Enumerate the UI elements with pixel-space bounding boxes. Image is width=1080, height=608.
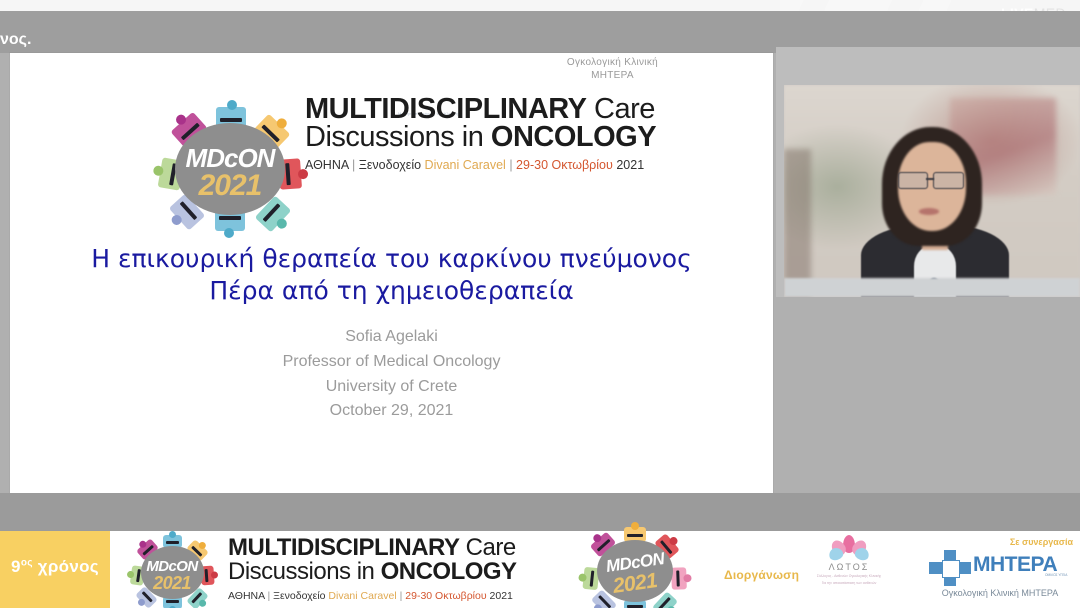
mdcon-logo-banner-right: MDcON 2021 <box>580 527 690 608</box>
author-name: Sofia Agelaki <box>10 325 773 350</box>
eyeglasses-bridge <box>926 178 934 180</box>
wordmark-sep1: | <box>352 158 355 172</box>
wordmark-line1-thin: Care <box>460 534 516 561</box>
mdcon-logo-line1: MDcON <box>126 559 218 574</box>
wordmark-dates: 29-30 Οκτωβρίου <box>405 590 486 602</box>
lotus-sponsor-logo: ΛΩΤΟΣ Σύλλογος - Ασθενών Ογκολογικής Κλι… <box>812 535 886 586</box>
year-badge: 9ος χρόνος <box>0 531 110 608</box>
player-bottom-strip <box>0 493 1080 531</box>
slide-title: Η επικουρική θεραπεία του καρκίνου πνεύμ… <box>10 243 773 307</box>
mdcon-logo-slide: MDcON 2021 <box>150 105 310 229</box>
mdcon-logo-line2: 2021 <box>126 574 218 592</box>
slide-clinic-header: Ογκολογική Κλινική ΜΗΤΕΡΑ <box>567 57 658 82</box>
lotus-sub1: Σύλλογος - Ασθενών Ογκολογικής Κλινικής <box>812 574 886 579</box>
slide-title-line1: Η επικουρική θεραπεία του καρκίνου πνεύμ… <box>10 243 773 275</box>
author-date: October 29, 2021 <box>10 399 773 424</box>
wordmark-line2-thin: Discussions in <box>228 558 381 585</box>
wordmark-sep2: | <box>400 590 403 602</box>
conference-wordmark-banner: MULTIDISCIPLINARY Care Discussions in ON… <box>228 534 517 602</box>
wordmark-venue: Divani Caravel <box>425 158 506 172</box>
organizer-label: Διοργάνωση <box>724 568 799 582</box>
door-edge <box>784 149 811 297</box>
year-badge-text: 9ος χρόνος <box>0 557 110 577</box>
wordmark-line2-bold: ONCOLOGY <box>491 121 656 153</box>
mitera-cross-icon <box>929 550 971 586</box>
eyeglasses-left-lens <box>898 172 928 189</box>
mdcon-logo-line1: MDcON <box>150 145 310 171</box>
lotus-name: ΛΩΤΟΣ <box>812 562 886 572</box>
slide-clinic-line2: ΜΗΤΕΡΑ <box>567 70 658 83</box>
cooperation-label: Σε συνεργασία <box>1010 537 1073 547</box>
wordmark-line3: ΑΘΗΝΑ | Ξενοδοχείο Divani Caravel | 29-3… <box>228 590 517 602</box>
wordmark-venue-label: Ξενοδοχείο <box>273 590 325 602</box>
wordmark-sep1: | <box>267 590 270 602</box>
mitera-tiny-text: ΟΜΙΛΟΣ ΥΓΕΙΑ <box>1045 573 1067 577</box>
speaker-video-panel[interactable] <box>776 47 1080 297</box>
wordmark-line2-bold: ONCOLOGY <box>381 558 517 585</box>
caption-text: νος. <box>0 31 31 49</box>
mitera-clinic-label: Ογκολογική Κλινική ΜΗΤΕΡΑ <box>925 588 1075 598</box>
presentation-slide[interactable]: Ογκολογική Κλινική ΜΗΤΕΡΑ Με την υποστήρ… <box>10 53 773 493</box>
desk-surface <box>784 278 1080 297</box>
sponsor-banner: 9ος χρόνος <box>0 531 1080 608</box>
wordmark-line2-thin: Discussions in <box>305 121 491 153</box>
wordmark-sep2: | <box>509 158 512 172</box>
slide-author-block: Sofia Agelaki Professor of Medical Oncol… <box>10 325 773 424</box>
slide-clinic-line1: Ογκολογική Κλινική <box>567 57 658 70</box>
eyeglasses-right-lens <box>933 172 963 189</box>
wordmark-year: 2021 <box>490 590 513 602</box>
year-badge-word: χρόνος <box>38 557 99 576</box>
wordmark-city: ΑΘΗΝΑ <box>305 158 349 172</box>
wordmark-line2: Discussions in ONCOLOGY <box>305 121 656 154</box>
lotus-sub2: Για την αποκατάσταση των ασθενών <box>812 581 886 586</box>
speaker-video[interactable] <box>784 85 1080 297</box>
author-role: Professor of Medical Oncology <box>10 350 773 375</box>
year-badge-suffix: ος <box>21 557 33 568</box>
slide-title-line2: Πέρα από τη χημειοθεραπεία <box>10 275 773 307</box>
wordmark-venue: Divani Caravel <box>328 590 396 602</box>
wordmark-venue-label: Ξενοδοχείο <box>359 158 421 172</box>
wordmark-dates: 29-30 Οκτωβρίου <box>516 158 613 172</box>
year-badge-number: 9 <box>11 557 21 576</box>
wordmark-line3: ΑΘΗΝΑ | Ξενοδοχείο Divani Caravel | 29-3… <box>305 158 656 172</box>
mdcon-logo-banner: MDcON 2021 <box>126 535 218 607</box>
conference-wordmark-slide: MULTIDISCIPLINARY Care Discussions in ON… <box>305 93 656 172</box>
author-affiliation: University of Crete <box>10 375 773 400</box>
speaker-mouth <box>919 208 940 215</box>
video-player: MD LIVEMED νος. Ογκολογική Κλινική ΜΗΤΕΡ… <box>0 0 1080 608</box>
mdcon-logo-line2: 2021 <box>150 171 310 201</box>
lotus-icon <box>829 535 869 561</box>
wordmark-city: ΑΘΗΝΑ <box>228 590 265 602</box>
wordmark-year: 2021 <box>616 158 644 172</box>
wordmark-line1-bold: MULTIDISCIPLINARY <box>228 534 460 561</box>
wordmark-line2: Discussions in ONCOLOGY <box>228 558 517 586</box>
